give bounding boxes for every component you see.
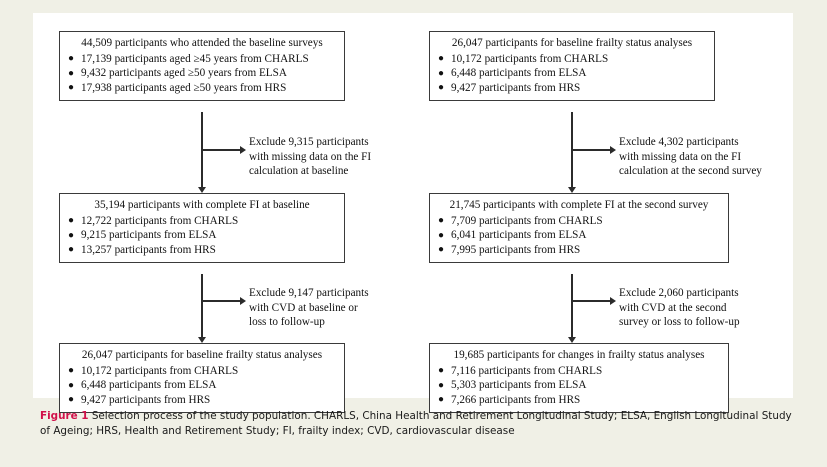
list-item-label: 17,938 participants aged ≥50 years from … xyxy=(81,82,286,94)
bullet-icon: ● xyxy=(438,51,444,66)
list-item: ●10,172 participants from CHARLS xyxy=(68,364,336,379)
bullet-icon: ● xyxy=(68,378,74,393)
list-item-label: 12,722 participants from CHARLS xyxy=(81,215,238,227)
connector-right-2-branch xyxy=(572,300,610,302)
bullet-icon: ● xyxy=(68,213,74,228)
bullet-icon: ● xyxy=(438,66,444,81)
list-item: ●17,139 participants aged ≥45 years from… xyxy=(68,52,336,67)
exclusion-line: Exclude 4,302 participants xyxy=(619,135,762,150)
list-item: ●7,266 participants from HRS xyxy=(438,393,720,408)
flow-box-title: 26,047 participants for baseline frailty… xyxy=(438,36,706,51)
bullet-icon: ● xyxy=(438,242,444,257)
exclusion-line: with CVD at the second xyxy=(619,301,740,316)
bullet-icon: ● xyxy=(68,228,74,243)
exclusion-note-left-1: Exclude 9,315 participants with missing … xyxy=(249,135,371,179)
bullet-icon: ● xyxy=(438,228,444,243)
exclusion-line: survey or loss to follow-up xyxy=(619,315,740,330)
list-item-label: 10,172 participants from CHARLS xyxy=(451,53,608,65)
list-item: ●6,448 participants from ELSA xyxy=(68,378,336,393)
connector-right-2-branch-arrowhead xyxy=(610,297,616,305)
flow-box-title: 44,509 participants who attended the bas… xyxy=(68,36,336,51)
connector-right-2-vertical xyxy=(571,274,573,337)
figure-caption-label: Figure 1 xyxy=(40,410,89,422)
exclusion-note-left-2: Exclude 9,147 participants with CVD at b… xyxy=(249,286,369,330)
list-item: ●9,432 participants aged ≥50 years from … xyxy=(68,66,336,81)
list-item: ●9,427 participants from HRS xyxy=(68,393,336,408)
list-item: ●6,448 participants from ELSA xyxy=(438,66,706,81)
list-item-label: 6,041 participants from ELSA xyxy=(451,229,586,241)
exclusion-line: with CVD at baseline or xyxy=(249,301,369,316)
flow-box-title: 21,745 participants with complete FI at … xyxy=(438,198,720,213)
list-item-label: 9,427 participants from HRS xyxy=(81,394,210,406)
bullet-icon: ● xyxy=(68,51,74,66)
bullet-icon: ● xyxy=(438,213,444,228)
exclusion-line: with missing data on the FI xyxy=(619,150,762,165)
bullet-icon: ● xyxy=(438,378,444,393)
list-item-label: 6,448 participants from ELSA xyxy=(451,67,586,79)
connector-left-2-vertical xyxy=(201,274,203,337)
flow-box-left-2: 35,194 participants with complete FI at … xyxy=(59,193,345,263)
exclusion-line: calculation at baseline xyxy=(249,164,371,179)
bullet-icon: ● xyxy=(68,80,74,95)
figure-caption: Figure 1 Selection process of the study … xyxy=(40,409,800,438)
figure-page: 44,509 participants who attended the bas… xyxy=(0,0,827,467)
list-item-label: 7,709 participants from CHARLS xyxy=(451,215,603,227)
list-item-label: 17,139 participants aged ≥45 years from … xyxy=(81,53,309,65)
flow-box-title: 19,685 participants for changes in frail… xyxy=(438,348,720,363)
list-item: ●9,427 participants from HRS xyxy=(438,81,706,96)
connector-left-2-branch-arrowhead xyxy=(240,297,246,305)
flow-box-right-2: 21,745 participants with complete FI at … xyxy=(429,193,729,263)
exclusion-note-right-2: Exclude 2,060 participants with CVD at t… xyxy=(619,286,740,330)
exclusion-line: Exclude 9,315 participants xyxy=(249,135,371,150)
figure-caption-text: Selection process of the study populatio… xyxy=(40,410,792,437)
flow-box-right-3: 19,685 participants for changes in frail… xyxy=(429,343,729,413)
flow-box-title: 26,047 participants for baseline frailty… xyxy=(68,348,336,363)
list-item-label: 7,995 participants from HRS xyxy=(451,244,580,256)
flow-box-cohort-list: ●7,116 participants from CHARLS ●5,303 p… xyxy=(438,364,720,408)
flow-box-cohort-list: ●12,722 participants from CHARLS ●9,215 … xyxy=(68,214,336,258)
connector-left-1-branch-arrowhead xyxy=(240,146,246,154)
connector-left-2-branch xyxy=(202,300,240,302)
list-item-label: 9,427 participants from HRS xyxy=(451,82,580,94)
figure-canvas: 44,509 participants who attended the bas… xyxy=(33,13,793,398)
connector-right-1-branch-arrowhead xyxy=(610,146,616,154)
flow-box-cohort-list: ●7,709 participants from CHARLS ●6,041 p… xyxy=(438,214,720,258)
exclusion-note-right-1: Exclude 4,302 participants with missing … xyxy=(619,135,762,179)
list-item: ●6,041 participants from ELSA xyxy=(438,228,720,243)
flow-box-title: 35,194 participants with complete FI at … xyxy=(68,198,336,213)
exclusion-line: loss to follow-up xyxy=(249,315,369,330)
flow-box-left-1: 44,509 participants who attended the bas… xyxy=(59,31,345,101)
list-item-label: 6,448 participants from ELSA xyxy=(81,379,216,391)
bullet-icon: ● xyxy=(68,242,74,257)
bullet-icon: ● xyxy=(438,80,444,95)
list-item: ●7,116 participants from CHARLS xyxy=(438,364,720,379)
bullet-icon: ● xyxy=(68,66,74,81)
exclusion-line: calculation at the second survey xyxy=(619,164,762,179)
bullet-icon: ● xyxy=(438,363,444,378)
exclusion-line: Exclude 2,060 participants xyxy=(619,286,740,301)
list-item: ●13,257 participants from HRS xyxy=(68,243,336,258)
exclusion-line: Exclude 9,147 participants xyxy=(249,286,369,301)
flow-box-left-3: 26,047 participants for baseline frailty… xyxy=(59,343,345,413)
list-item: ●10,172 participants from CHARLS xyxy=(438,52,706,67)
list-item: ●17,938 participants aged ≥50 years from… xyxy=(68,81,336,96)
list-item-label: 10,172 participants from CHARLS xyxy=(81,365,238,377)
list-item-label: 7,266 participants from HRS xyxy=(451,394,580,406)
list-item: ●7,709 participants from CHARLS xyxy=(438,214,720,229)
list-item: ●9,215 participants from ELSA xyxy=(68,228,336,243)
list-item-label: 5,303 participants from ELSA xyxy=(451,379,586,391)
list-item-label: 13,257 participants from HRS xyxy=(81,244,216,256)
bullet-icon: ● xyxy=(68,363,74,378)
flow-box-right-1: 26,047 participants for baseline frailty… xyxy=(429,31,715,101)
bullet-icon: ● xyxy=(438,392,444,407)
connector-left-1-branch xyxy=(202,149,240,151)
flow-box-cohort-list: ●10,172 participants from CHARLS ●6,448 … xyxy=(68,364,336,408)
list-item-label: 7,116 participants from CHARLS xyxy=(451,365,602,377)
flow-box-cohort-list: ●17,139 participants aged ≥45 years from… xyxy=(68,52,336,96)
exclusion-line: with missing data on the FI xyxy=(249,150,371,165)
list-item-label: 9,215 participants from ELSA xyxy=(81,229,216,241)
bullet-icon: ● xyxy=(68,392,74,407)
list-item: ●5,303 participants from ELSA xyxy=(438,378,720,393)
list-item: ●7,995 participants from HRS xyxy=(438,243,720,258)
list-item: ●12,722 participants from CHARLS xyxy=(68,214,336,229)
list-item-label: 9,432 participants aged ≥50 years from E… xyxy=(81,67,287,79)
flow-box-cohort-list: ●10,172 participants from CHARLS ●6,448 … xyxy=(438,52,706,96)
connector-right-1-branch xyxy=(572,149,610,151)
